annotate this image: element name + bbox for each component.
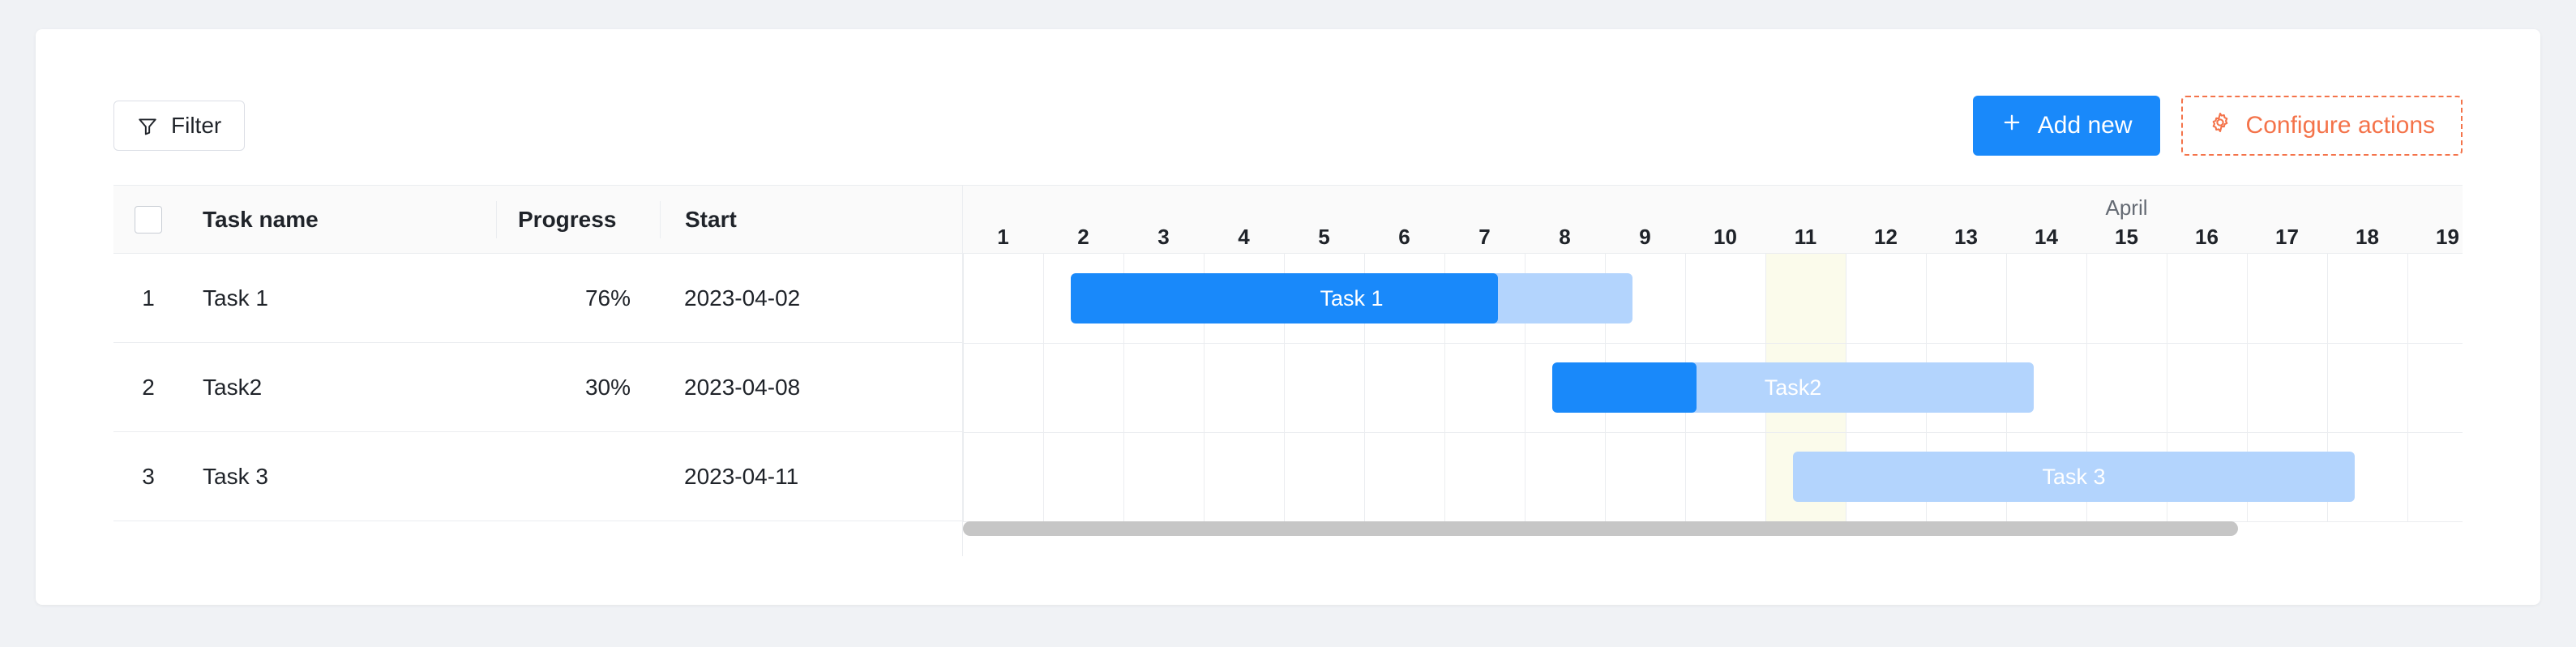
row-divider (963, 343, 2463, 344)
row-task-name: Task 1 (183, 285, 496, 311)
day-header-17: 17 (2247, 225, 2327, 250)
select-all-cell (113, 206, 183, 234)
timeline-header: April 12345678910111213141516171819 (963, 186, 2463, 254)
day-header-7: 7 (1444, 225, 1525, 250)
gantt-container: Task name Progress Start 1 Task 1 76% 20… (113, 185, 2463, 556)
gantt-card: Filter Add new Configure actions (36, 29, 2540, 605)
horizontal-scrollbar-track[interactable] (963, 521, 2463, 536)
gantt-bar[interactable]: Task2 (1552, 362, 2034, 413)
day-header-13: 13 (1926, 225, 2006, 250)
column-divider (2407, 254, 2408, 521)
timeline-body: Task 1Task2Task 3 (963, 254, 2463, 556)
day-header-6: 6 (1364, 225, 1444, 250)
gantt-bar-label: Task 3 (2042, 465, 2105, 490)
gantt-bar[interactable]: Task 1 (1071, 273, 1632, 323)
day-header-14: 14 (2006, 225, 2086, 250)
plus-icon (2000, 111, 2023, 140)
funnel-icon (137, 115, 158, 136)
day-header-4: 4 (1204, 225, 1284, 250)
column-header-progress: Progress (496, 201, 660, 238)
column-header-start: Start (660, 201, 963, 238)
configure-actions-button[interactable]: Configure actions (2181, 96, 2463, 156)
day-header-12: 12 (1846, 225, 1926, 250)
row-start-date: 2023-04-02 (660, 285, 963, 311)
row-index: 3 (113, 464, 183, 490)
table-row[interactable]: 2 Task2 30% 2023-04-08 (113, 343, 962, 432)
row-start-date: 2023-04-08 (660, 375, 963, 401)
gantt-bar-progress-fill (1552, 362, 1697, 413)
grid-header-row: Task name Progress Start (113, 186, 962, 254)
gantt-bar-label: Task 1 (1320, 286, 1383, 311)
configure-actions-label: Configure actions (2246, 112, 2435, 139)
day-header-5: 5 (1284, 225, 1364, 250)
day-header-2: 2 (1043, 225, 1123, 250)
filter-button[interactable]: Filter (113, 101, 245, 151)
row-task-name: Task 3 (183, 464, 496, 490)
day-header-11: 11 (1765, 225, 1846, 250)
gantt-bar[interactable]: Task 3 (1793, 452, 2355, 502)
select-all-checkbox[interactable] (135, 206, 162, 234)
add-new-label: Add new (2038, 112, 2133, 139)
day-header-9: 9 (1605, 225, 1685, 250)
task-grid: Task name Progress Start 1 Task 1 76% 20… (113, 186, 963, 556)
filter-label: Filter (171, 113, 221, 139)
table-row[interactable]: 3 Task 3 2023-04-11 (113, 432, 962, 521)
day-header-8: 8 (1525, 225, 1605, 250)
column-divider (1043, 254, 1044, 521)
timeline-pane: April 12345678910111213141516171819 Task… (963, 186, 2463, 556)
row-task-name: Task2 (183, 375, 496, 401)
row-progress: 76% (496, 285, 660, 311)
horizontal-scrollbar-thumb[interactable] (963, 521, 2238, 536)
toolbar: Filter Add new Configure actions (36, 29, 2540, 126)
row-progress: 30% (496, 375, 660, 401)
day-header-1: 1 (963, 225, 1043, 250)
month-label: April (1765, 195, 2463, 221)
gantt-bar-label: Task2 (1765, 375, 1822, 401)
day-header-18: 18 (2327, 225, 2407, 250)
day-header-10: 10 (1685, 225, 1765, 250)
day-header-15: 15 (2086, 225, 2167, 250)
column-header-task-name: Task name (183, 207, 496, 233)
row-index: 1 (113, 285, 183, 311)
day-header-19: 19 (2407, 225, 2463, 250)
table-row[interactable]: 1 Task 1 76% 2023-04-02 (113, 254, 962, 343)
row-start-date: 2023-04-11 (660, 464, 963, 490)
column-divider (963, 254, 964, 521)
row-index: 2 (113, 375, 183, 401)
toolbar-actions: Add new Configure actions (1973, 96, 2463, 156)
add-new-button[interactable]: Add new (1973, 96, 2160, 156)
day-header-16: 16 (2167, 225, 2247, 250)
gear-icon (2209, 111, 2232, 140)
day-header-3: 3 (1123, 225, 1204, 250)
gantt-bar-progress-fill (1071, 273, 1498, 323)
row-divider (963, 432, 2463, 433)
